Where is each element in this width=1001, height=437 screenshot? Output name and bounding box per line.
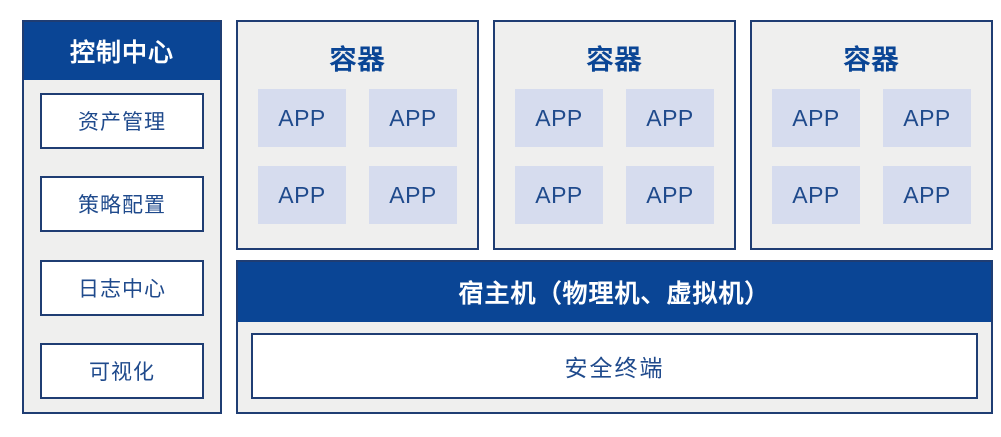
container-title: 容器 — [844, 38, 900, 77]
app-box[interactable]: APP — [883, 166, 971, 224]
app-box[interactable]: APP — [883, 89, 971, 147]
app-box[interactable]: APP — [369, 166, 457, 224]
container-title: 容器 — [330, 38, 386, 77]
app-box[interactable]: APP — [626, 166, 714, 224]
app-box[interactable]: APP — [515, 89, 603, 147]
app-grid: APP APP APP APP — [515, 89, 714, 224]
app-box[interactable]: APP — [369, 89, 457, 147]
app-grid: APP APP APP APP — [258, 89, 457, 224]
control-center-item-log-center[interactable]: 日志中心 — [40, 260, 204, 316]
control-center-item-asset-management[interactable]: 资产管理 — [40, 93, 204, 149]
architecture-diagram: 控制中心 资产管理 策略配置 日志中心 可视化 容器 APP APP APP A… — [0, 0, 1001, 437]
control-center-title: 控制中心 — [24, 22, 220, 80]
host-machine-panel: 宿主机（物理机、虚拟机） 安全终端 — [236, 260, 993, 414]
control-center-panel: 控制中心 资产管理 策略配置 日志中心 可视化 — [22, 20, 222, 414]
container-panel: 容器 APP APP APP APP — [236, 20, 479, 250]
app-box[interactable]: APP — [772, 89, 860, 147]
security-endpoint-box[interactable]: 安全终端 — [251, 333, 978, 399]
app-box[interactable]: APP — [772, 166, 860, 224]
app-box[interactable]: APP — [626, 89, 714, 147]
app-box[interactable]: APP — [258, 89, 346, 147]
container-panel: 容器 APP APP APP APP — [750, 20, 993, 250]
host-machine-body: 安全终端 — [238, 322, 991, 412]
control-center-item-list: 资产管理 策略配置 日志中心 可视化 — [24, 80, 220, 412]
control-center-item-policy-configuration[interactable]: 策略配置 — [40, 176, 204, 232]
app-box[interactable]: APP — [515, 166, 603, 224]
container-title: 容器 — [587, 38, 643, 77]
app-grid: APP APP APP APP — [772, 89, 971, 224]
control-center-item-visualization[interactable]: 可视化 — [40, 343, 204, 399]
host-machine-title: 宿主机（物理机、虚拟机） — [238, 262, 991, 322]
app-box[interactable]: APP — [258, 166, 346, 224]
container-panel: 容器 APP APP APP APP — [493, 20, 736, 250]
